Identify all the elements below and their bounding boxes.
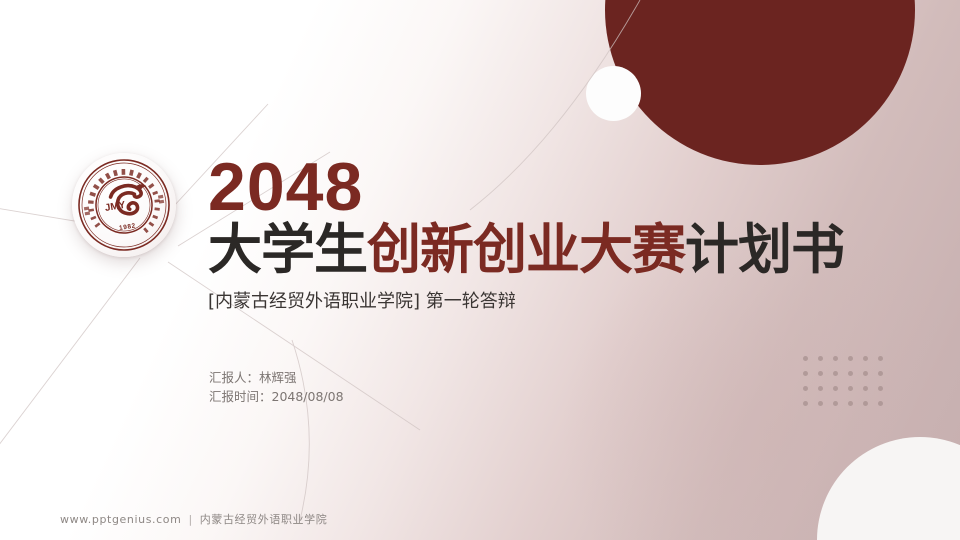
title-block: 2048 大学生创新创业大赛计划书 [内蒙古经贸外语职业学院] 第一轮答辩: [208, 152, 848, 314]
report-date-line: 汇报时间：2048/08/08: [209, 387, 344, 406]
footer-separator: |: [188, 513, 192, 526]
footer: www.pptgenius.com|内蒙古经贸外语职业学院: [60, 511, 327, 527]
dot-grid-decoration: [803, 356, 893, 416]
footer-institution: 内蒙古经贸外语职业学院: [200, 513, 328, 526]
footer-website: www.pptgenius.com: [60, 513, 181, 526]
maroon-circle-decoration: [605, 0, 915, 165]
title-part-2: 创新创业大赛: [367, 218, 685, 281]
small-white-circle-decoration: [586, 66, 641, 121]
university-seal-icon: JMY 1982: [65, 146, 184, 265]
subtitle: [内蒙古经贸外语职业学院] 第一轮答辩: [208, 290, 848, 314]
presenter-meta: 汇报人：林辉强 汇报时间：2048/08/08: [209, 368, 344, 406]
presentation-slide: JMY 1982 2048 大学生创新创业大赛计划书 [内蒙古经贸外语职业学院]…: [0, 0, 960, 540]
title-part-1: 大学生: [208, 218, 367, 281]
presenter-line: 汇报人：林辉强: [209, 368, 344, 387]
title-part-3: 计划书: [685, 218, 844, 281]
page-title: 大学生创新创业大赛计划书: [208, 220, 848, 280]
year-heading: 2048: [208, 152, 848, 222]
university-seal-logo: JMY 1982: [65, 146, 184, 265]
